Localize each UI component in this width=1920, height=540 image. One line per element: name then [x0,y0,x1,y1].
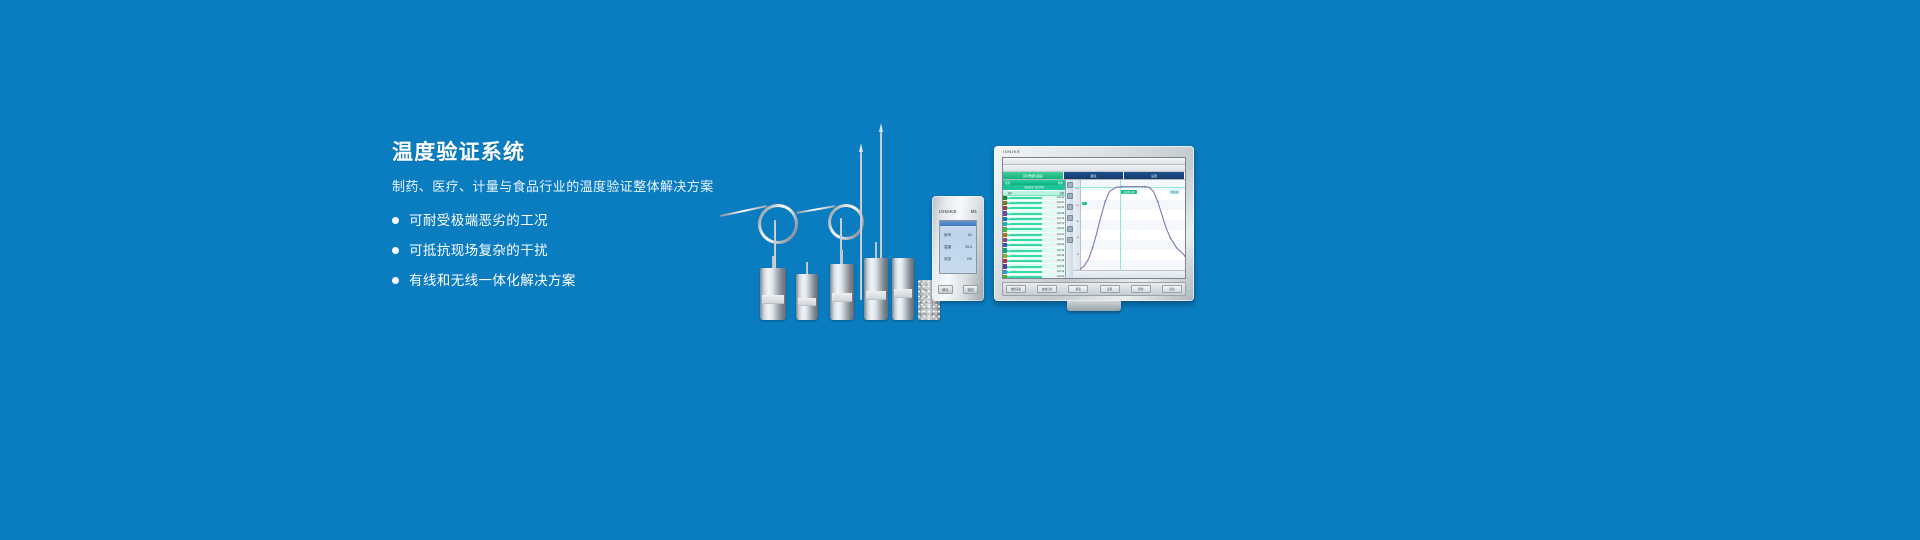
cursor-icon[interactable] [1067,215,1073,221]
chart-x-axis [1073,270,1185,278]
chart-annotation-hold: 灭菌保温段 [1121,190,1137,194]
y-axis-tick: 80 [1077,221,1079,223]
monitor-stand [1067,301,1121,311]
bullet-dot-icon [392,217,399,224]
column-header-value: 读数 [1042,191,1065,195]
data-logger [892,258,914,320]
cell-reading: 122.27 [1042,239,1065,241]
zoom-in-icon[interactable] [1067,182,1073,188]
fn-key-exit[interactable]: 退出 [1162,285,1182,293]
cell-reading: 122.05 [1042,228,1065,230]
row-label: 温度 [944,245,951,250]
handheld-model-label: M1 [971,209,977,214]
software-tabbar[interactable]: 实时数据(温度) 报表 设置 [1003,172,1185,180]
cell-channel-id: 13 [1007,260,1042,262]
chart-annotation-cooldown: 降温段 [1169,190,1180,194]
cell-reading: 122.12 [1042,250,1065,252]
cell-channel-id: 16 [1007,276,1042,278]
pan-icon[interactable] [1067,204,1073,210]
cell-channel-id: 10 [1007,244,1042,246]
handheld-back-button[interactable]: 返回 [963,285,978,294]
bullet-dot-icon [392,277,399,284]
fn-key-acquire[interactable]: 数据采集 [1006,285,1026,293]
marker-icon[interactable] [1067,226,1073,232]
tab-settings[interactable]: 设置 [1124,172,1185,179]
cell-channel-id: 01 [1007,197,1042,199]
row-value: 01 [968,233,972,238]
coiled-probe-icon [758,204,798,244]
cell-reading: 122.69 [1042,213,1065,215]
cell-reading: 122.74 [1042,223,1065,225]
chart-marker-badge[interactable]: A [1082,202,1087,205]
fn-key-report[interactable]: 报表 [1068,285,1088,293]
cell-channel-id: 06 [1007,223,1042,225]
fn-key-settings[interactable]: 设置 [1100,285,1120,293]
rigid-needle-probe [860,152,862,300]
export-icon[interactable] [1067,237,1073,243]
monitor-brand-label: IONIKE [1003,149,1020,154]
table-row[interactable]: 16122.66 [1003,275,1065,278]
cell-channel-id: 04 [1007,213,1042,215]
cell-reading: 122.83 [1042,244,1065,246]
cell-reading: 122.61 [1042,234,1065,236]
table-header-right: 状态 [1058,181,1063,185]
y-axis-tick: 120 [1075,188,1079,190]
y-axis-tick: 60 [1077,237,1079,239]
feature-text: 有线和无线一体化解决方案 [409,272,576,289]
cell-channel-id: 14 [1007,266,1042,268]
bullet-dot-icon [392,247,399,254]
cell-reading: 122.33 [1042,207,1065,209]
product-photo-group: IONIKE M1 序号 01 温度 25.3 状态 OK 确认 返 [700,120,1220,320]
handheld-brand-label: IONIKE [939,209,957,214]
cell-reading: 122.66 [1042,276,1065,278]
data-logger [864,242,888,320]
temperature-profile-chart[interactable]: 12010080604020 A 灭菌保温段 降温段 [1073,180,1185,278]
monitor-display: IONIKE 实时数据(温度) 报表 设置 通道 状态 [994,146,1194,301]
data-logger [796,262,818,320]
cell-channel-id: 05 [1007,218,1042,220]
cell-channel-id: 07 [1007,228,1042,230]
hero-banner: 温度验证系统 制药、医疗、计量与食品行业的温度验证整体解决方案 可耐受极端恶劣的… [0,0,1920,540]
cell-reading: 122.18 [1042,218,1065,220]
handheld-screen-titlebar [940,221,976,226]
validation-software-window: 实时数据(温度) 报表 设置 通道 状态 温度验证 测点列表 [1002,157,1186,279]
handheld-screen-row: 温度 25.3 [944,245,972,250]
software-titlebar [1003,158,1185,165]
software-menubar [1003,165,1185,172]
feature-text: 可抵抗现场复杂的干扰 [409,242,548,259]
software-body: 通道 状态 温度验证 测点列表 编号 读数 01122.4102122.5703… [1003,180,1185,278]
cell-reading: 122.19 [1042,271,1065,273]
handheld-screen: 序号 01 温度 25.3 状态 OK [939,220,977,274]
handheld-screen-row: 状态 OK [944,257,972,262]
monitor-function-keybar[interactable]: 数据采集 曲线分析 报表 设置 帮助 退出 [1002,282,1186,296]
cell-channel-id: 08 [1007,234,1042,236]
row-label: 状态 [944,257,951,262]
cell-channel-id: 12 [1007,255,1042,257]
cell-reading: 122.36 [1042,260,1065,262]
table-header-left: 通道 [1005,181,1010,185]
cell-reading: 122.41 [1042,197,1065,199]
cell-reading: 122.55 [1042,266,1065,268]
column-header-id: 编号 [1007,191,1042,195]
cell-channel-id: 09 [1007,239,1042,241]
row-label: 序号 [944,233,951,238]
data-logger [830,250,854,320]
handheld-reader-device[interactable]: IONIKE M1 序号 01 温度 25.3 状态 OK 确认 返 [932,196,984,301]
zoom-out-icon[interactable] [1067,193,1073,199]
fn-key-help[interactable]: 帮助 [1131,285,1151,293]
handheld-screen-row: 序号 01 [944,233,972,238]
data-logger [760,256,786,320]
y-axis-tick: 40 [1077,254,1079,256]
y-axis-tick: 100 [1075,205,1079,207]
chart-tool-gutter[interactable] [1066,180,1073,278]
cell-channel-id: 15 [1007,271,1042,273]
fn-key-analysis[interactable]: 曲线分析 [1037,285,1057,293]
coiled-probe-icon [828,204,864,240]
handheld-confirm-button[interactable]: 确认 [938,285,953,294]
cell-reading: 122.57 [1042,202,1065,204]
cell-reading: 122.48 [1042,255,1065,257]
cell-channel-id: 03 [1007,207,1042,209]
cell-channel-id: 02 [1007,202,1042,204]
table-row-container[interactable]: 01122.4102122.5703122.3304122.6905122.18… [1003,196,1065,279]
channel-data-table[interactable]: 通道 状态 温度验证 测点列表 编号 读数 01122.4102122.5703… [1003,180,1066,278]
tab-realtime[interactable]: 实时数据(温度) [1003,172,1064,179]
tab-report[interactable]: 报表 [1064,172,1125,179]
cell-channel-id: 11 [1007,250,1042,252]
row-value: 25.3 [965,245,972,250]
row-value: OK [967,257,972,262]
handheld-keypad[interactable]: 确认 返回 [938,285,978,294]
feature-text: 可耐受极端恶劣的工况 [409,212,548,229]
